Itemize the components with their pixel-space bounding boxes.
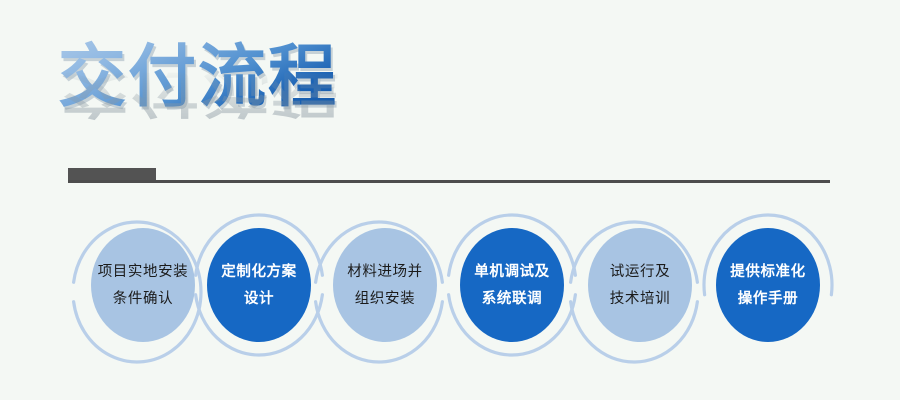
step-label-line1: 提供标准化 [730, 262, 806, 280]
step-label-line2: 条件确认 [113, 290, 173, 307]
process-step-2[interactable]: 定制化方案设计 [196, 215, 323, 355]
step-circle[interactable] [91, 228, 195, 342]
process-step-4[interactable]: 单机调试及系统联调 [449, 215, 576, 355]
step-label-line2: 系统联调 [482, 289, 542, 307]
step-circle[interactable] [207, 228, 311, 342]
delivery-process-diagram: 项目实地安装条件确认定制化方案设计材料进场并组织安装单机调试及系统联调试运行及技… [0, 196, 900, 371]
step-circle[interactable] [333, 228, 437, 342]
process-step-5[interactable]: 试运行及技术培训 [571, 222, 698, 362]
step-label-line2: 设计 [244, 289, 274, 307]
step-label-line1: 材料进场并 [347, 263, 423, 280]
step-label-line1: 定制化方案 [221, 262, 297, 280]
step-circle[interactable] [588, 228, 692, 342]
step-circle[interactable] [460, 228, 564, 342]
title-block: 交付流程 交付流程 [58, 38, 458, 158]
step-label-line1: 单机调试及 [474, 262, 550, 280]
step-label-line2: 操作手册 [738, 289, 798, 307]
step-circle[interactable] [716, 228, 820, 342]
step-label-line2: 组织安装 [355, 290, 415, 307]
step-label-line1: 项目实地安装 [98, 263, 189, 280]
divider [68, 168, 830, 184]
step-label-line1: 试运行及 [610, 263, 670, 280]
process-step-3[interactable]: 材料进场并组织安装 [316, 222, 443, 362]
process-step-6[interactable]: 提供标准化操作手册 [704, 215, 832, 342]
process-step-1[interactable]: 项目实地安装条件确认 [74, 222, 201, 362]
slide-canvas: 交付流程 交付流程 项目实地安装条件确认定制化方案设计材料进场并组织安装单机调试… [0, 0, 900, 400]
divider-line [68, 180, 830, 183]
step-label-line2: 技术培训 [610, 290, 670, 307]
page-title: 交付流程 [58, 38, 338, 116]
